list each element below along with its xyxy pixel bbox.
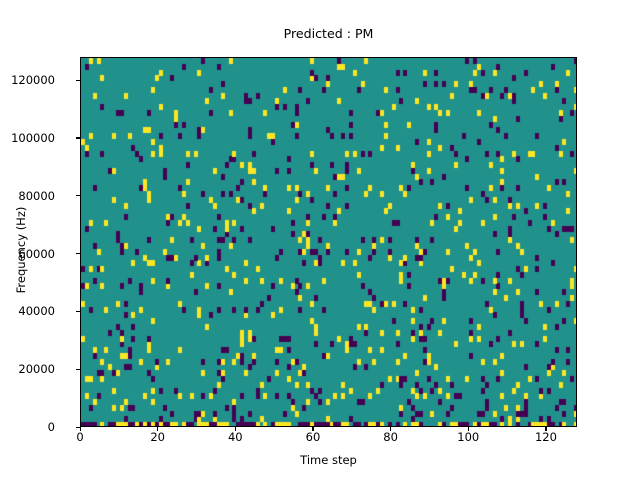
heatmap-plot-area (80, 57, 577, 427)
x-tick-label: 80 (361, 431, 421, 444)
x-axis-label: Time step (80, 453, 577, 467)
x-tick-mark (312, 427, 313, 431)
y-tick-mark (76, 137, 80, 138)
x-tick-mark (390, 427, 391, 431)
y-tick-mark (76, 311, 80, 312)
x-tick-label: 0 (50, 431, 110, 444)
x-tick-mark (545, 427, 546, 431)
chart-title: Predicted : PM (80, 26, 577, 42)
y-tick-mark (76, 369, 80, 370)
x-tick-mark (235, 427, 236, 431)
matplotlib-figure: Predicted : PM 0200004000060000800001000… (0, 0, 640, 480)
y-tick-mark (76, 253, 80, 254)
y-axis-label: Frequency (Hz) (14, 65, 30, 435)
x-tick-mark (80, 427, 81, 431)
x-tick-label: 40 (205, 431, 265, 444)
x-tick-label: 100 (438, 431, 498, 444)
heatmap-canvas (81, 58, 577, 427)
x-tick-mark (157, 427, 158, 431)
y-tick-mark (76, 80, 80, 81)
x-tick-label: 60 (283, 431, 343, 444)
x-tick-label: 20 (128, 431, 188, 444)
x-tick-mark (468, 427, 469, 431)
y-tick-mark (76, 195, 80, 196)
x-tick-label: 120 (516, 431, 576, 444)
